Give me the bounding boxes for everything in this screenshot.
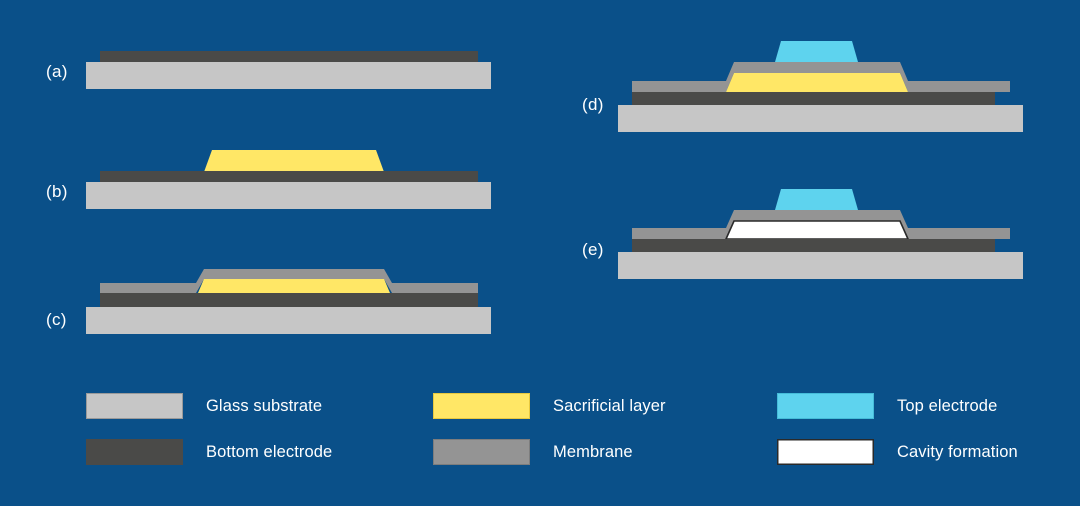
legend-label-cavity-formation: Cavity formation bbox=[897, 443, 1018, 462]
legend-label-sacrificial-layer: Sacrificial layer bbox=[553, 397, 666, 416]
legend-item-cavity-formation: Cavity formation bbox=[777, 439, 1018, 465]
legend-label-glass-substrate: Glass substrate bbox=[206, 397, 322, 416]
legend-swatch-sacrificial-layer bbox=[433, 393, 530, 419]
legend-item-top-electrode: Top electrode bbox=[777, 393, 997, 419]
legend-label-top-electrode: Top electrode bbox=[897, 397, 997, 416]
legend-item-glass-substrate: Glass substrate bbox=[86, 393, 322, 419]
legend-label-membrane: Membrane bbox=[553, 443, 633, 462]
legend-swatch-top-electrode bbox=[777, 393, 874, 419]
legend-item-bottom-electrode: Bottom electrode bbox=[86, 439, 332, 465]
figure-canvas: (a) (b) (c) (d) (e) bbox=[0, 0, 1080, 506]
legend-swatch-bottom-electrode bbox=[86, 439, 183, 465]
legend-swatch-cavity-formation bbox=[777, 439, 874, 465]
legend-item-sacrificial-layer: Sacrificial layer bbox=[433, 393, 666, 419]
legend-swatch-glass-substrate bbox=[86, 393, 183, 419]
legend-swatch-membrane bbox=[433, 439, 530, 465]
legend-label-bottom-electrode: Bottom electrode bbox=[206, 443, 332, 462]
legend: Glass substrate Bottom electrode Sacrifi… bbox=[0, 0, 1080, 506]
legend-item-membrane: Membrane bbox=[433, 439, 633, 465]
